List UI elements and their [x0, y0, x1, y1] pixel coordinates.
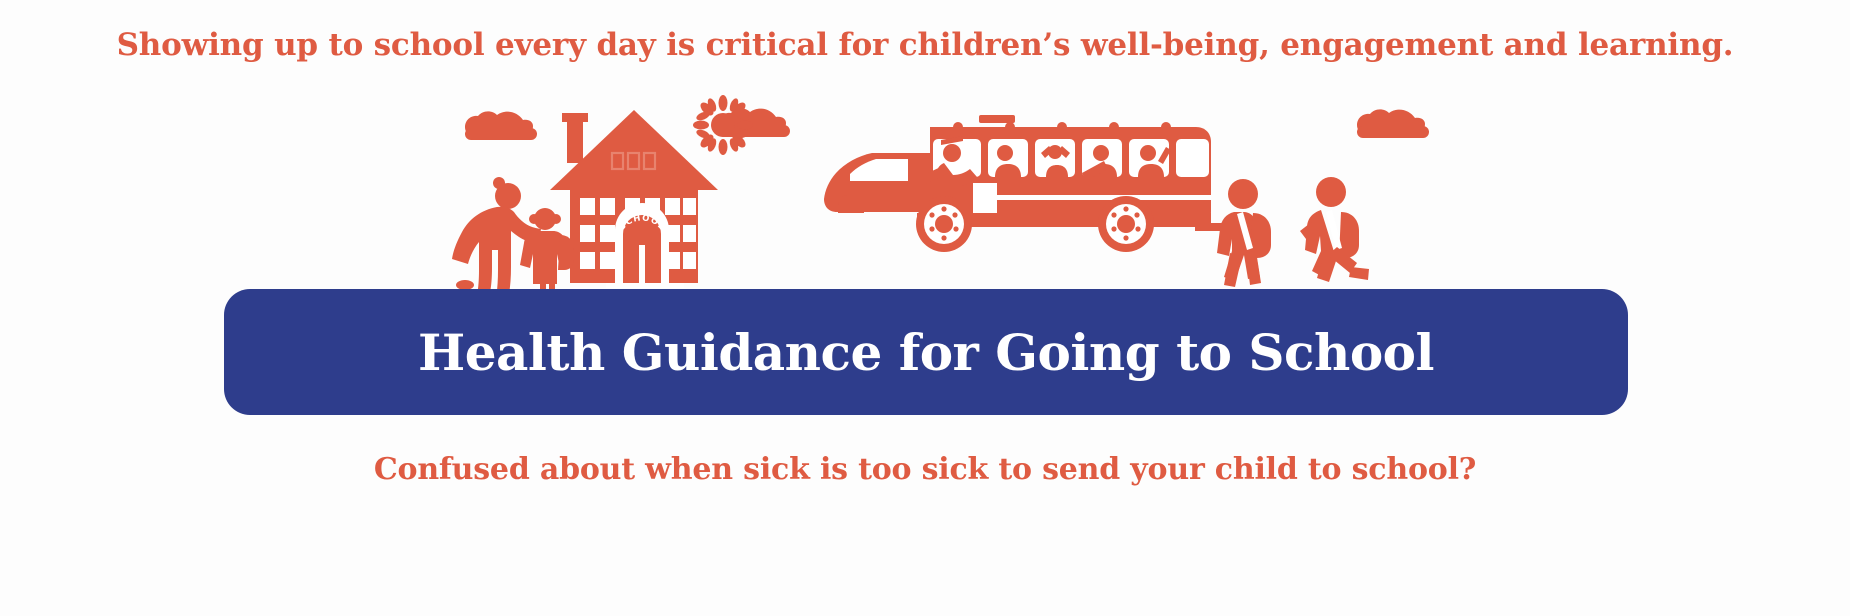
main-banner-title: Health Guidance for Going to School: [418, 323, 1434, 382]
school-illustration: SCHOOL: [0, 95, 1850, 295]
page-headline: Showing up to school every day is critic…: [0, 27, 1850, 63]
sub-headline: Confused about when sick is too sick to …: [0, 452, 1850, 487]
running-child-icon: [1300, 177, 1369, 282]
health-guidance-banner: Showing up to school every day is critic…: [0, 0, 1850, 616]
sun-icon: [693, 95, 753, 155]
school-bus-icon: [824, 115, 1229, 252]
school-building-icon: SCHOOL: [550, 110, 718, 288]
parent-and-child-icon: [452, 177, 574, 295]
walking-child-icon: [1217, 179, 1271, 287]
main-banner: Health Guidance for Going to School: [224, 289, 1628, 415]
cta-row: Click here for more information: [0, 520, 1850, 594]
cloud-left-icon: [465, 111, 537, 140]
cloud-right-icon: [1357, 109, 1429, 138]
